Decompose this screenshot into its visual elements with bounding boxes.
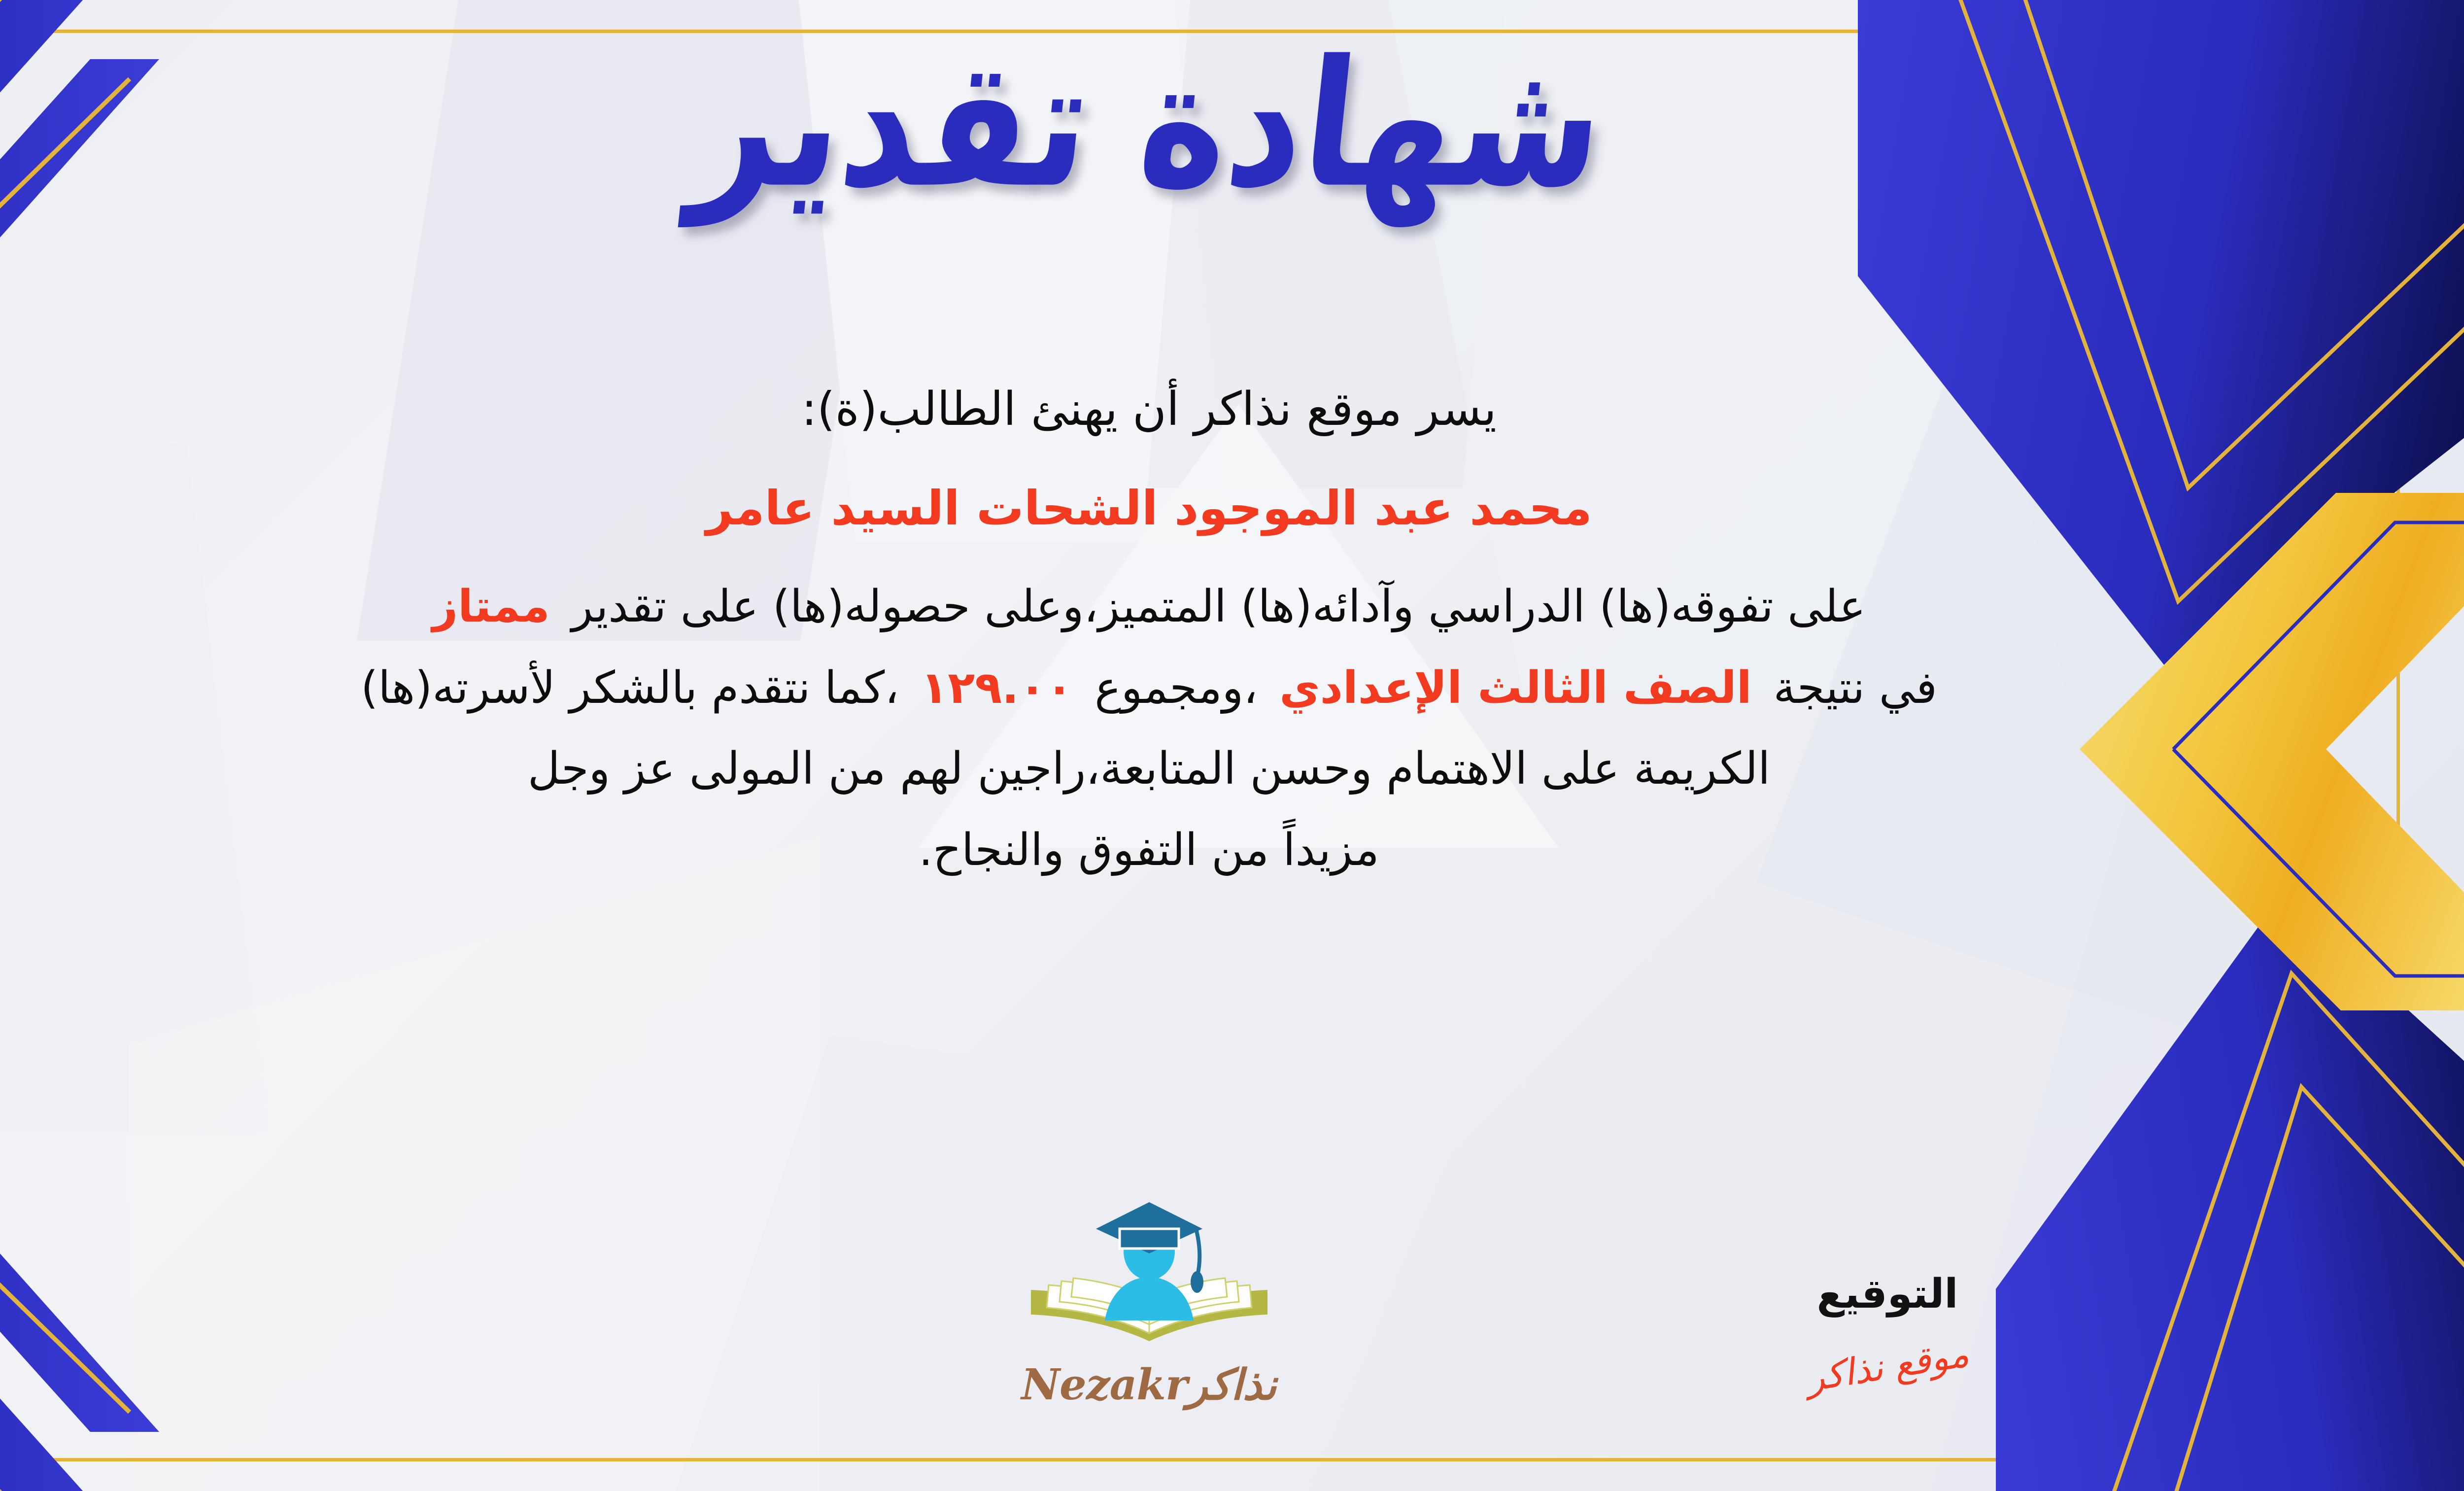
achievement-line: على تفوقه(ها) الدراسي وآدائه(ها) المتميز… [0,573,2341,641]
intro-line: يسر موقع نذاكر أن يهنئ الطالب(ة): [0,375,2341,445]
certificate-title-wrap: شهادة تقدير [0,47,2464,202]
brand-name-latin: Nezakr [1021,1360,1187,1410]
brand-name-arabic: نذاكر [1187,1360,1276,1410]
result-prefix: في نتيجة [1774,662,1937,714]
grade-level-value: الصف الثالث الإعدادي [1279,662,1751,714]
thanks-prefix: ،كما نتقدم بالشكر لأسرته(ها) [361,662,899,714]
graduate-book-icon [1001,1193,1297,1358]
closing-line: مزيداً من التفوق والنجاح. [0,817,2341,884]
result-line: في نتيجةالصف الثالث الإعدادي،ومجموع١٢٩.٠… [0,655,2341,722]
total-score-value: ١٢٩.٠٠ [921,662,1073,714]
brand-logo-block: نذاكرNezakr [0,1193,2464,1410]
certificate-canvas: شهادة تقدير يسر موقع نذاكر أن يهنئ الطال… [0,0,2464,1491]
certificate-body: يسر موقع نذاكر أن يهنئ الطالب(ة): محمد ع… [0,375,2341,884]
total-label: ،ومجموع [1095,662,1258,714]
student-name: محمد عبد الموجود الشحات السيد عامر [0,473,2341,545]
page-title: شهادة تقدير [685,33,1612,216]
grade-rating-value: ممتاز [432,581,549,632]
brand-name: نذاكرNezakr [0,1360,2464,1410]
family-thanks-line: الكريمة على الاهتمام وحسن المتابعة،راجين… [0,735,2341,803]
achievement-text: على تفوقه(ها) الدراسي وآدائه(ها) المتميز… [572,581,1866,632]
